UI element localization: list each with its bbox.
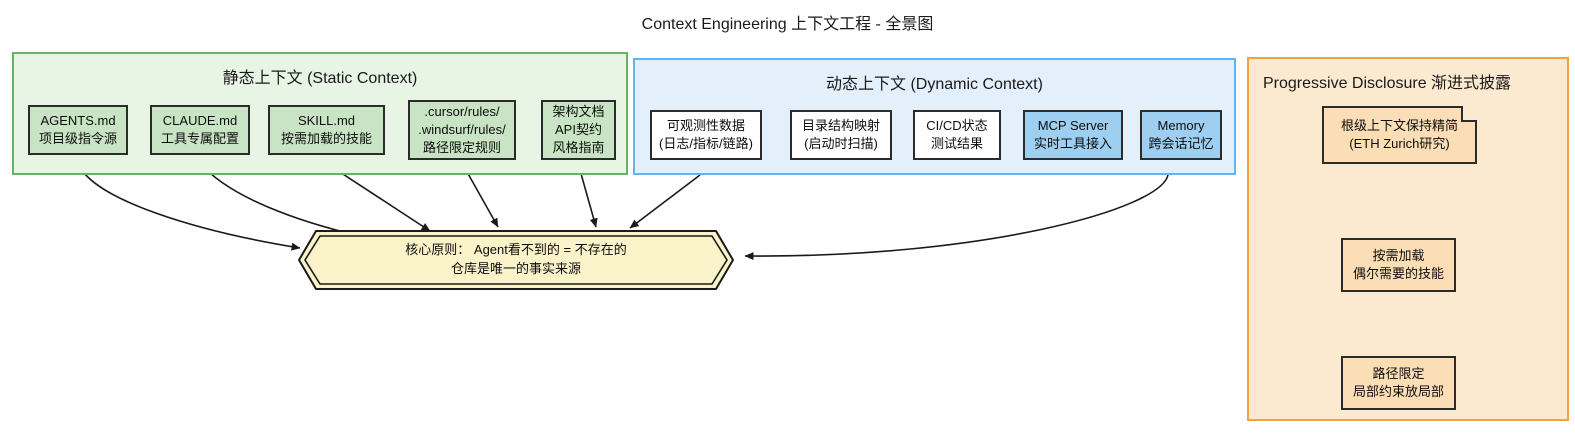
group-static-title: 静态上下文 (Static Context): [14, 64, 626, 88]
node-rules-files-line-1: .cursor/rules/: [424, 103, 499, 121]
node-mcp-server-line-2: 实时工具接入: [1034, 135, 1112, 153]
node-dir-structure-line-2: (启动时扫描): [804, 135, 878, 153]
node-path-scoped-line-1: 路径限定: [1372, 365, 1424, 383]
node-on-demand-skills-line-1: 按需加载: [1372, 247, 1424, 265]
node-mcp-server-line-1: MCP Server: [1038, 117, 1109, 135]
node-dir-structure[interactable]: 目录结构映射 (启动时扫描): [790, 110, 892, 160]
group-dynamic-title: 动态上下文 (Dynamic Context): [635, 70, 1234, 94]
node-observability-line-1: 可观测性数据: [667, 117, 745, 135]
node-skill-md[interactable]: SKILL.md 按需加载的技能: [268, 105, 385, 155]
node-memory-line-2: 跨会话记忆: [1148, 135, 1213, 153]
node-skill-md-line-2: 按需加载的技能: [281, 130, 372, 148]
node-memory[interactable]: Memory 跨会话记忆: [1140, 110, 1222, 160]
node-claude-md-line-2: 工具专属配置: [161, 130, 239, 148]
node-observability[interactable]: 可观测性数据 (日志/指标/链路): [650, 110, 762, 160]
page-title: Context Engineering 上下文工程 - 全景图: [0, 10, 1575, 34]
node-arch-docs-line-1: 架构文档: [552, 103, 604, 121]
node-rules-files-line-2: .windsurf/rules/: [418, 121, 505, 139]
node-arch-docs[interactable]: 架构文档 API契约 风格指南: [541, 100, 616, 160]
node-agents-md[interactable]: AGENTS.md 项目级指令源: [28, 105, 128, 155]
edge-memory-to-core: [745, 175, 1168, 256]
edge-observability-to-core: [630, 175, 700, 228]
node-claude-md-line-1: CLAUDE.md: [163, 112, 237, 130]
node-rules-files-line-3: 路径限定规则: [423, 139, 501, 157]
node-arch-docs-line-2: API契约: [555, 121, 602, 139]
diagram-canvas: Context Engineering 上下文工程 - 全景图: [0, 0, 1575, 437]
node-arch-docs-line-3: 风格指南: [552, 139, 604, 157]
node-path-scoped-line-2: 局部约束放局部: [1353, 383, 1444, 401]
node-path-scoped[interactable]: 路径限定 局部约束放局部: [1341, 356, 1456, 410]
node-claude-md[interactable]: CLAUDE.md 工具专属配置: [150, 105, 250, 155]
node-cicd-status[interactable]: CI/CD状态 测试结果: [913, 110, 1001, 160]
group-progressive-title: Progressive Disclosure 渐进式披露: [1249, 69, 1575, 93]
node-agents-md-line-1: AGENTS.md: [40, 112, 115, 130]
node-dir-structure-line-1: 目录结构映射: [802, 117, 880, 135]
node-cicd-status-line-2: 测试结果: [931, 135, 983, 153]
node-on-demand-skills[interactable]: 按需加载 偶尔需要的技能: [1341, 238, 1456, 292]
core-principle-shape: [296, 228, 736, 292]
node-observability-line-2: (日志/指标/链路): [659, 135, 753, 153]
node-core-principle[interactable]: 核心原则： Agent看不到的 = 不存在的 仓库是唯一的事实来源: [296, 228, 736, 292]
edge-agents-to-core: [78, 163, 300, 248]
node-skill-md-line-1: SKILL.md: [298, 112, 355, 130]
node-root-context-note[interactable]: 根级上下文保持精简 (ETH Zurich研究): [1322, 106, 1477, 164]
node-on-demand-skills-line-2: 偶尔需要的技能: [1353, 265, 1444, 283]
node-agents-md-line-2: 项目级指令源: [39, 130, 117, 148]
node-memory-line-1: Memory: [1158, 117, 1205, 135]
node-mcp-server[interactable]: MCP Server 实时工具接入: [1023, 110, 1123, 160]
node-rules-files[interactable]: .cursor/rules/ .windsurf/rules/ 路径限定规则: [408, 100, 516, 160]
node-cicd-status-line-1: CI/CD状态: [926, 117, 987, 135]
node-root-context-note-line-2: (ETH Zurich研究): [1349, 135, 1449, 153]
folded-corner-icon: [1461, 106, 1477, 122]
node-root-context-note-line-1: 根级上下文保持精简: [1341, 117, 1458, 135]
